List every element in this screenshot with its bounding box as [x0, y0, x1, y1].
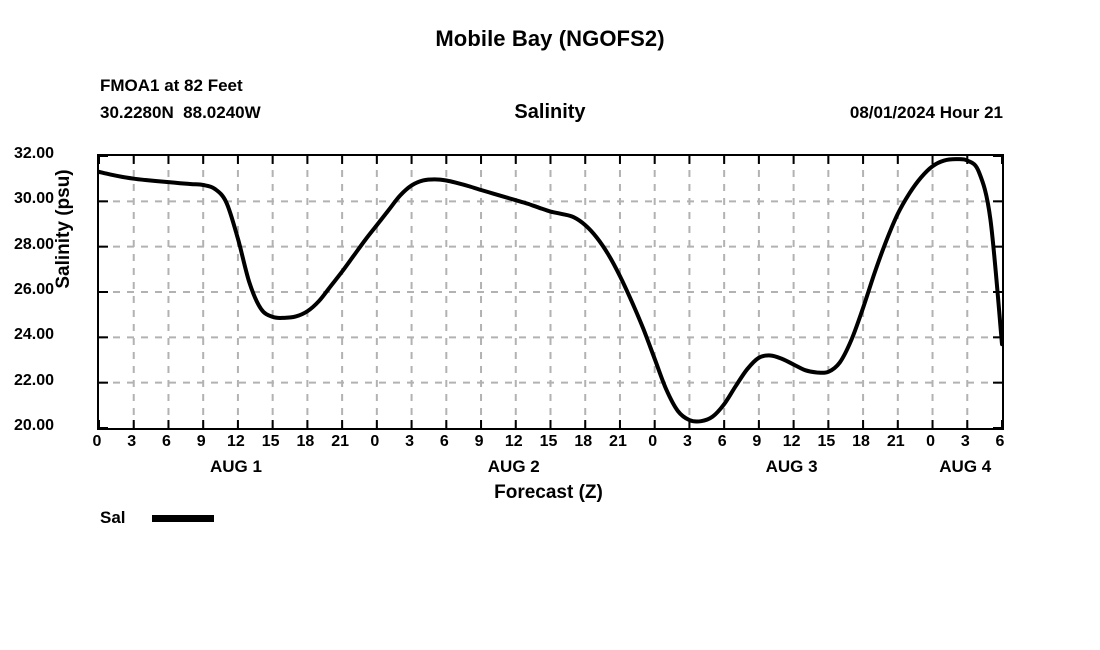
- bottom-axis-ticks: [99, 420, 1002, 428]
- legend-label-sal: Sal: [100, 508, 126, 528]
- day-label: AUG 4: [905, 458, 1025, 475]
- y-axis-label: Salinity (psu): [53, 129, 75, 329]
- forecast-run-time: 08/01/2024 Hour 21: [850, 103, 1003, 123]
- plot-area: [97, 154, 1004, 430]
- day-label: AUG 1: [176, 458, 296, 475]
- legend-swatch-sal: [152, 515, 214, 522]
- chart-page: Mobile Bay (NGOFS2) FMOA1 at 82 Feet 30.…: [0, 0, 1100, 650]
- y-tick-label: 22.00: [14, 373, 54, 389]
- y-tick-label: 20.00: [14, 418, 54, 434]
- y-tick-label: 28.00: [14, 237, 54, 253]
- y-tick-label: 26.00: [14, 282, 54, 298]
- y-tick-label: 32.00: [14, 146, 54, 162]
- y-tick-label: 30.00: [14, 191, 54, 207]
- station-info: FMOA1 at 82 Feet: [100, 76, 243, 96]
- page-title: Mobile Bay (NGOFS2): [0, 26, 1100, 52]
- top-axis-ticks: [99, 156, 1002, 164]
- chart-legend: Sal: [100, 508, 214, 528]
- day-label: AUG 3: [732, 458, 852, 475]
- x-axis-label: Forecast (Z): [97, 482, 1000, 504]
- salinity-line-chart: [99, 156, 1002, 428]
- x-tick-label: 6: [980, 434, 1020, 450]
- left-axis-ticks: [99, 156, 108, 428]
- y-tick-label: 24.00: [14, 327, 54, 343]
- day-label: AUG 2: [454, 458, 574, 475]
